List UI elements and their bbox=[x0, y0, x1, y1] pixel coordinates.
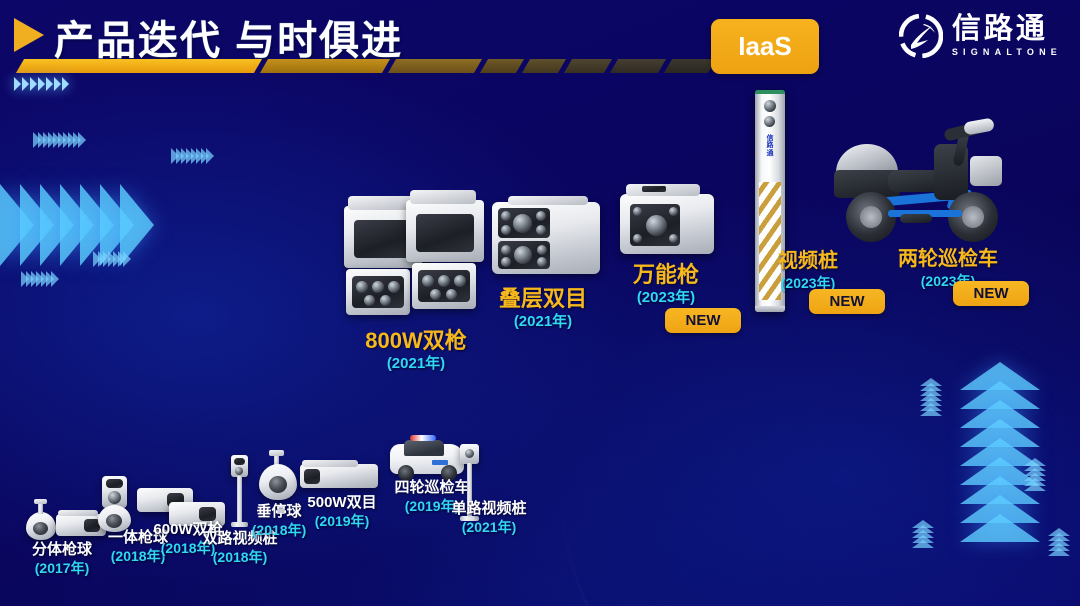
product-node[interactable] bbox=[616, 182, 718, 260]
product-caption: 500W双目 (2019年) bbox=[296, 494, 388, 530]
vertical-parking-dome-icon bbox=[256, 452, 300, 506]
header-chevron-icon bbox=[14, 76, 184, 92]
chevron-up-small-icon bbox=[1024, 458, 1046, 488]
new-badge: NEW bbox=[953, 281, 1029, 306]
electric-scooter-icon bbox=[826, 118, 1012, 246]
product-caption: 单路视频桩 (2021年) bbox=[434, 500, 544, 536]
product-name: 单路视频桩 bbox=[434, 500, 544, 517]
binocular-camera-icon bbox=[300, 458, 380, 496]
chevron-up-small-icon bbox=[920, 378, 942, 413]
logo-company-name-en: SIGNALTONE bbox=[952, 48, 1062, 57]
header-accent-bar bbox=[14, 59, 1014, 73]
iaas-badge[interactable]: IaaS bbox=[711, 19, 819, 74]
product-name: 800W双枪 bbox=[336, 328, 496, 353]
product-name: 万能枪 bbox=[608, 262, 724, 287]
product-date: (2019年) bbox=[296, 513, 388, 530]
product-date: (2018年) bbox=[184, 549, 296, 566]
product-node[interactable] bbox=[300, 458, 380, 496]
product-caption: 叠层双目 (2021年) bbox=[478, 286, 608, 331]
chevron-row-icon bbox=[36, 132, 86, 148]
chevron-row-icon bbox=[24, 271, 59, 287]
slide-canvas: 产品迭代 与时俱进 IaaS 信路通 SIGNALTONE bbox=[0, 0, 1080, 606]
page-title: 产品迭代 与时俱进 bbox=[54, 8, 403, 66]
product-name: 500W双目 bbox=[296, 494, 388, 511]
product-node[interactable] bbox=[484, 196, 604, 284]
chevron-row-icon bbox=[174, 148, 214, 164]
product-node[interactable] bbox=[338, 196, 494, 321]
product-caption: 视频桩 (2023年) bbox=[752, 250, 864, 292]
product-caption: 万能枪 (2023年) bbox=[608, 262, 724, 307]
chevron-large-icon bbox=[14, 184, 154, 266]
product-date: (2021年) bbox=[434, 519, 544, 536]
new-badge: NEW bbox=[665, 308, 741, 333]
product-date: (2023年) bbox=[608, 289, 724, 307]
chevron-row-icon bbox=[96, 251, 131, 267]
product-name: 视频桩 bbox=[752, 250, 864, 273]
chevron-up-small-icon bbox=[1048, 528, 1070, 553]
signaltone-swoosh-icon bbox=[899, 14, 943, 58]
logo-company-name: 信路通 bbox=[952, 15, 1062, 44]
product-node[interactable] bbox=[826, 118, 1012, 246]
product-node[interactable] bbox=[256, 452, 300, 506]
new-badge: NEW bbox=[809, 289, 885, 314]
play-triangle-icon bbox=[14, 18, 44, 52]
stacked-binocular-camera-icon bbox=[484, 196, 604, 284]
product-date: (2021年) bbox=[336, 355, 496, 373]
product-date: (2021年) bbox=[478, 313, 608, 331]
dual-gun-camera-icon bbox=[338, 196, 494, 321]
product-caption: 800W双枪 (2021年) bbox=[336, 328, 496, 373]
product-name: 叠层双目 bbox=[478, 286, 608, 311]
product-name: 两轮巡检车 bbox=[878, 248, 1018, 271]
chevron-up-large-icon bbox=[960, 362, 1040, 533]
company-logo[interactable]: 信路通 SIGNALTONE bbox=[899, 14, 1062, 58]
universal-gun-camera-icon bbox=[616, 182, 718, 260]
chevron-up-small-icon bbox=[912, 520, 934, 545]
